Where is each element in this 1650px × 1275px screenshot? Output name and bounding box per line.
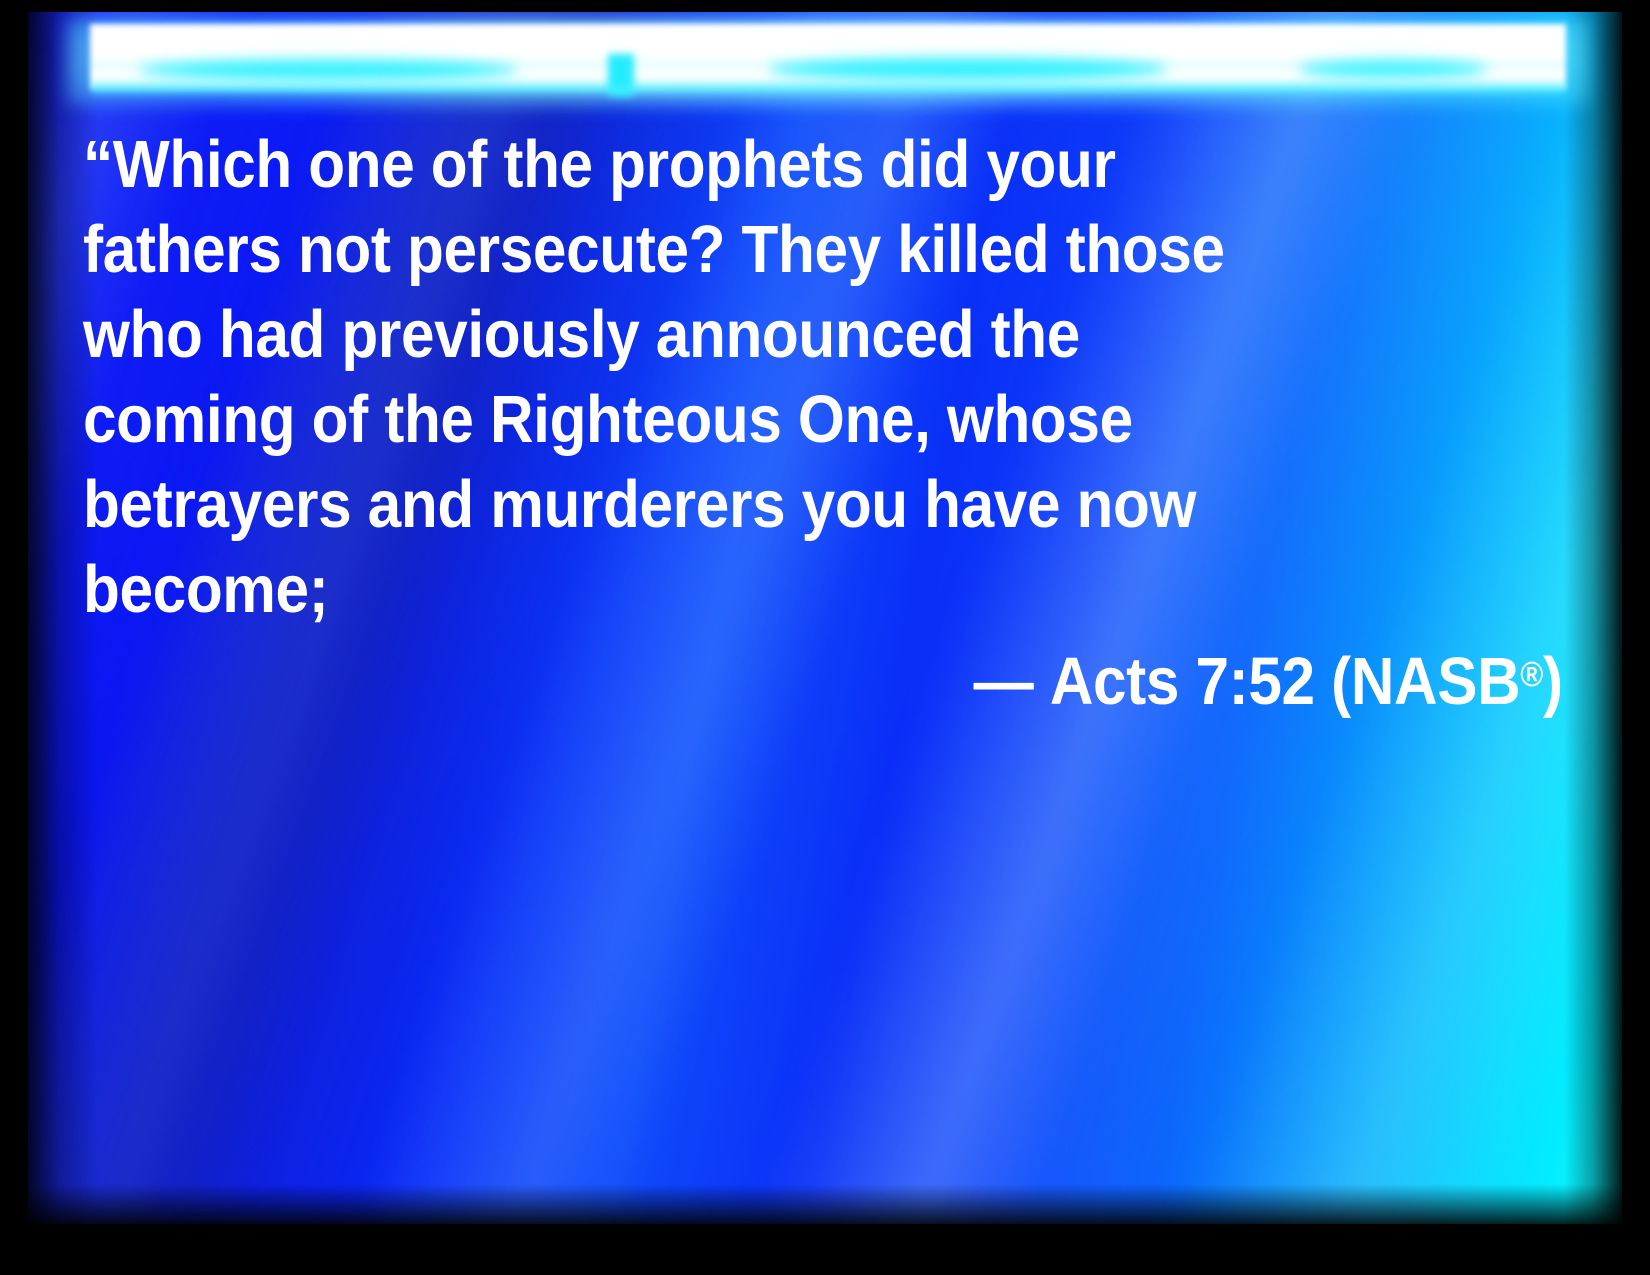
verse-line-5: betrayers and murderers you have now — [83, 462, 1415, 547]
attribution-close-paren: ) — [1543, 644, 1563, 719]
attribution-space-2 — [1179, 644, 1195, 719]
verse-line-6: become; — [83, 547, 1415, 632]
attribution-reference: 7:52 — [1196, 644, 1315, 719]
attribution-open-paren: ( — [1331, 644, 1351, 719]
slide-canvas: “Which one of the prophets did your fath… — [28, 12, 1622, 1224]
verse-slide: “Which one of the prophets did your fath… — [0, 0, 1650, 1275]
attribution-translation: NASB — [1351, 644, 1520, 719]
attribution-space-3 — [1315, 644, 1331, 719]
verse-line-2: fathers not persecute? They killed those — [83, 207, 1415, 292]
attribution-dash: — — [974, 644, 1034, 719]
attribution-line: — Acts 7:52 (NASB®) — [974, 632, 1563, 724]
verse-line-4: coming of the Righteous One, whose — [83, 377, 1415, 462]
registered-trademark-icon: ® — [1521, 655, 1544, 694]
verse-text-block: “Which one of the prophets did your fath… — [83, 122, 1563, 632]
attribution-book: Acts — [1050, 644, 1179, 719]
verse-line-1: “Which one of the prophets did your — [83, 122, 1415, 207]
verse-attribution: — Acts 7:52 (NASB®) — [83, 632, 1563, 724]
verse-line-3: who had previously announced the — [83, 292, 1415, 377]
attribution-space — [1034, 644, 1050, 719]
